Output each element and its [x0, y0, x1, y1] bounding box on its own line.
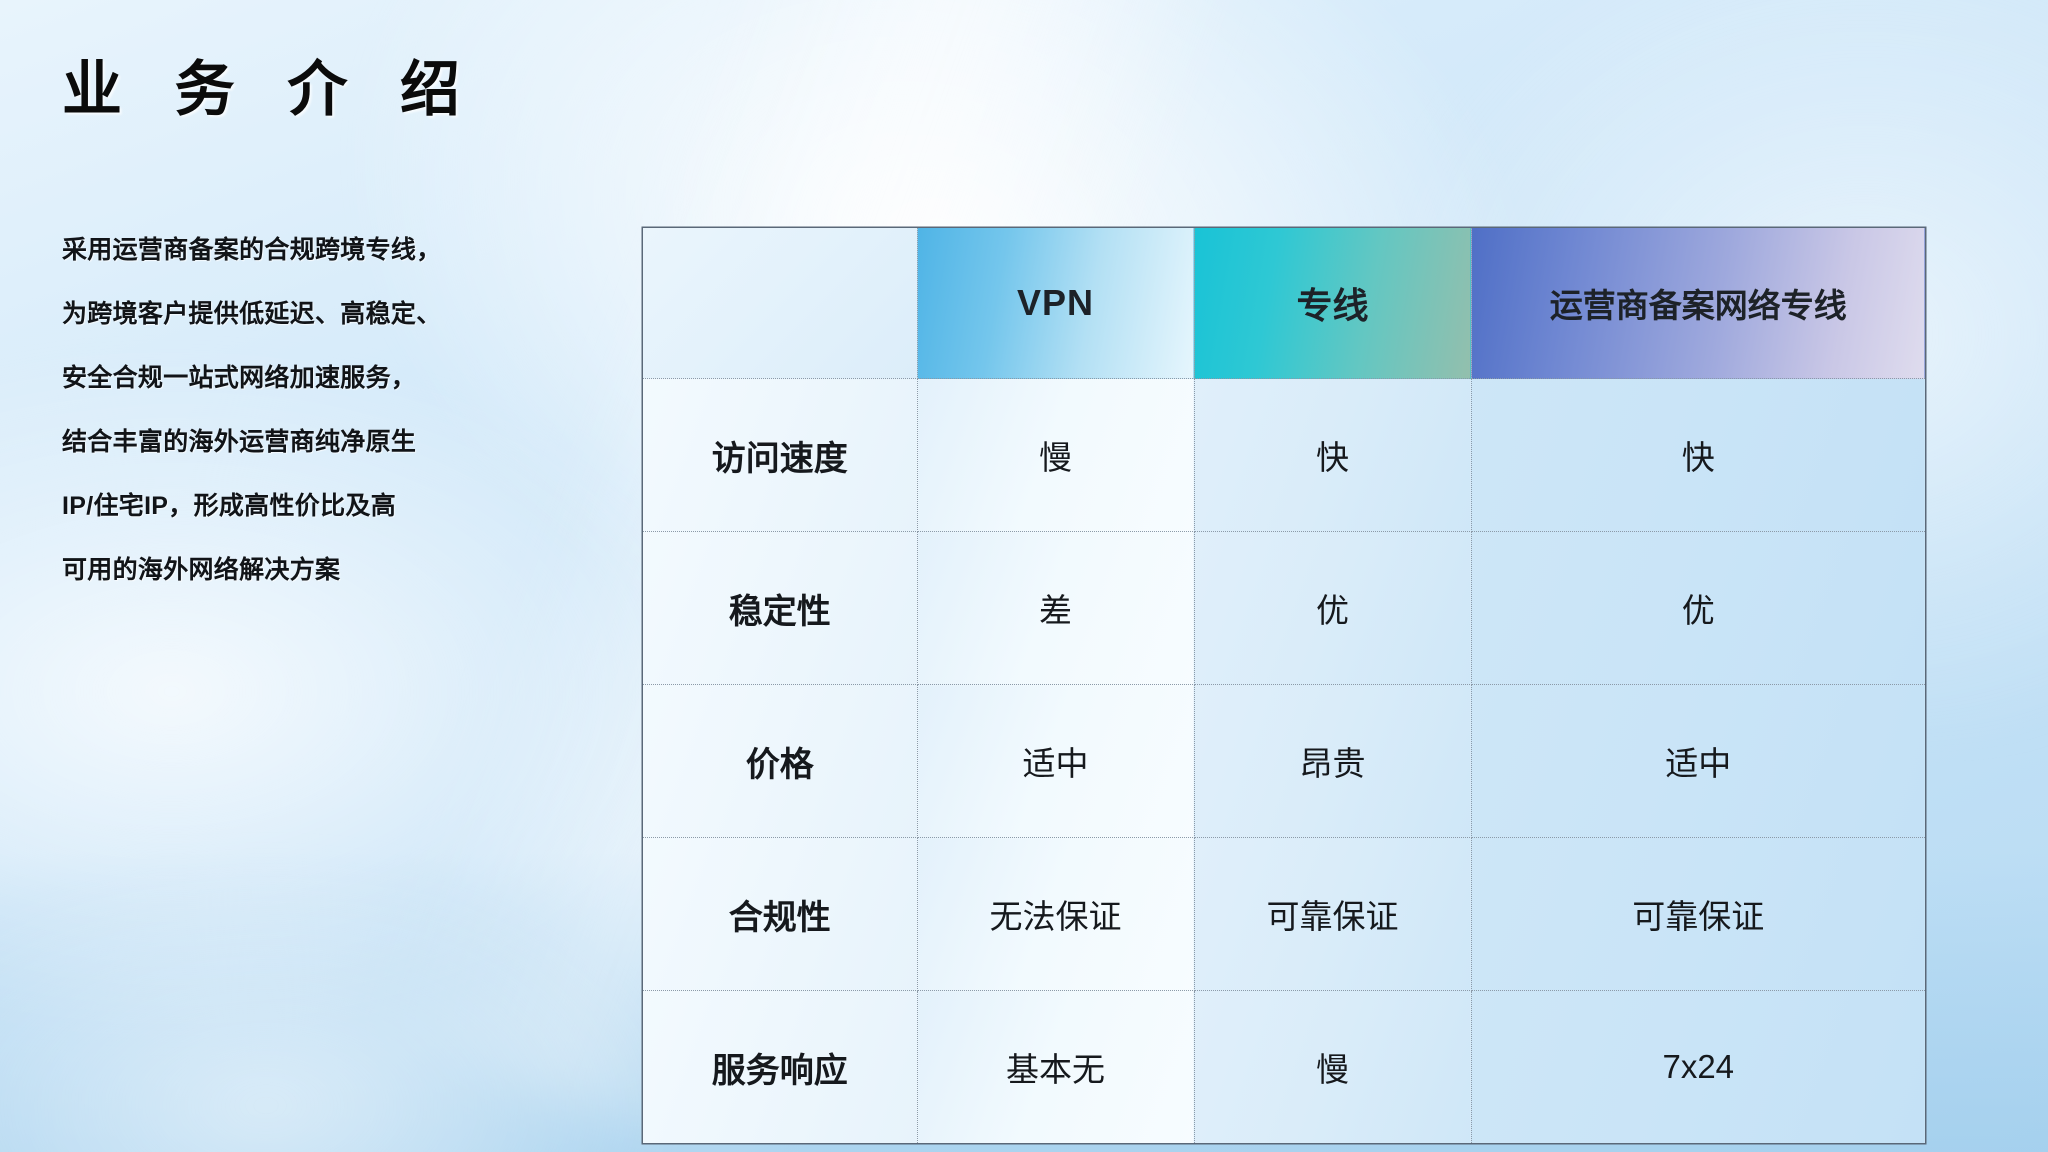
table-header-carrier: 运营商备案网络专线	[1471, 228, 1925, 379]
cell-vpn: 基本无	[917, 991, 1194, 1144]
table-header: VPN 专线 运营商备案网络专线	[643, 228, 1925, 379]
cell-vpn: 无法保证	[917, 838, 1194, 991]
intro-line: 采用运营商备案的合规跨境专线，	[62, 238, 622, 263]
row-label: 服务响应	[643, 991, 917, 1144]
cell-line: 优	[1194, 532, 1471, 685]
background-glow-bottom-left	[0, 852, 696, 1152]
cell-line: 快	[1194, 379, 1471, 532]
row-label: 合规性	[643, 838, 917, 991]
comparison-table: VPN 专线 运营商备案网络专线 访问速度 慢 快 快 稳定性 差 优 优 价格…	[643, 228, 1925, 1143]
table-header-row: VPN 专线 运营商备案网络专线	[643, 228, 1925, 379]
cell-carrier: 可靠保证	[1471, 838, 1925, 991]
table-row: 访问速度 慢 快 快	[643, 379, 1925, 532]
cell-carrier: 7x24	[1471, 991, 1925, 1144]
intro-line: 为跨境客户提供低延迟、高稳定、	[62, 302, 622, 327]
cell-carrier: 适中	[1471, 685, 1925, 838]
slide-canvas: 业 务 介 绍 采用运营商备案的合规跨境专线， 为跨境客户提供低延迟、高稳定、 …	[0, 0, 2048, 1152]
cell-carrier: 快	[1471, 379, 1925, 532]
cell-vpn: 差	[917, 532, 1194, 685]
cell-line: 慢	[1194, 991, 1471, 1144]
row-label: 价格	[643, 685, 917, 838]
cell-vpn: 慢	[917, 379, 1194, 532]
page-title: 业 务 介 绍	[62, 58, 478, 121]
cell-line: 昂贵	[1194, 685, 1471, 838]
table-row: 稳定性 差 优 优	[643, 532, 1925, 685]
table-row: 合规性 无法保证 可靠保证 可靠保证	[643, 838, 1925, 991]
table-row: 价格 适中 昂贵 适中	[643, 685, 1925, 838]
table-header-vpn: VPN	[917, 228, 1194, 379]
cell-carrier: 优	[1471, 532, 1925, 685]
intro-line: 结合丰富的海外运营商纯净原生	[62, 430, 622, 455]
table-header-blank	[643, 228, 917, 379]
table-row: 服务响应 基本无 慢 7x24	[643, 991, 1925, 1144]
row-label: 稳定性	[643, 532, 917, 685]
intro-line: IP/住宅IP，形成高性价比及高	[62, 494, 622, 519]
cell-vpn: 适中	[917, 685, 1194, 838]
table-header-line: 专线	[1194, 228, 1471, 379]
cell-line: 可靠保证	[1194, 838, 1471, 991]
intro-paragraph: 采用运营商备案的合规跨境专线， 为跨境客户提供低延迟、高稳定、 安全合规一站式网…	[62, 238, 622, 622]
table-body: 访问速度 慢 快 快 稳定性 差 优 优 价格 适中 昂贵 适中 合规性 无法保…	[643, 379, 1925, 1144]
intro-line: 可用的海外网络解决方案	[62, 558, 622, 583]
row-label: 访问速度	[643, 379, 917, 532]
intro-line: 安全合规一站式网络加速服务，	[62, 366, 622, 391]
